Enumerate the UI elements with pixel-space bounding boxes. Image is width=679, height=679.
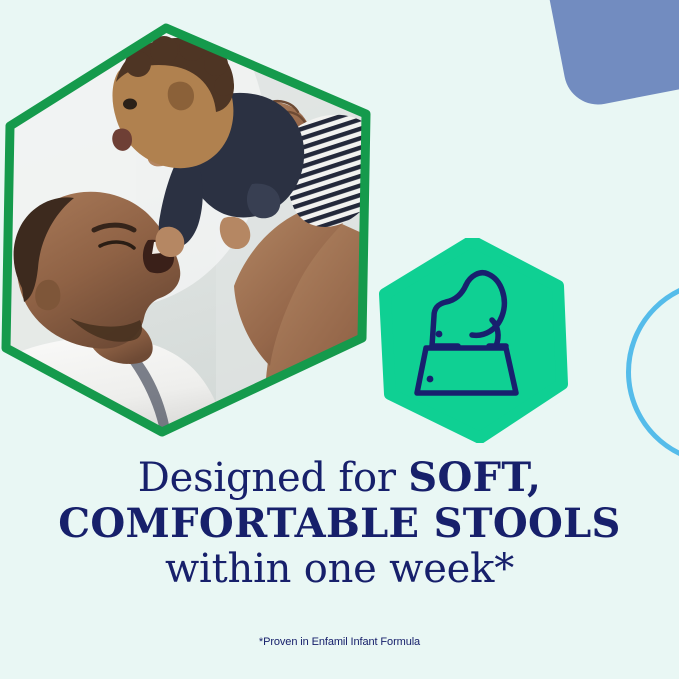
footnote-text: *Proven in Enfamil Infant Formula — [0, 636, 679, 648]
stool-badge — [376, 238, 571, 443]
circle-outline-shape — [626, 279, 679, 465]
badge-hexagon-shape — [385, 241, 562, 438]
blue-corner-shape — [533, 0, 679, 110]
headline-line-1-bold: SOFT, — [408, 454, 541, 501]
headline-block: Designed for SOFT, COMFORTABLE STOOLS wi… — [0, 456, 679, 592]
headline-line-2: COMFORTABLE STOOLS — [0, 502, 679, 545]
headline-line-1-regular: Designed for — [138, 455, 409, 501]
photo-hexagon — [0, 18, 386, 442]
headline-line-1: Designed for SOFT, — [0, 456, 679, 500]
ad-canvas: Designed for SOFT, COMFORTABLE STOOLS wi… — [0, 0, 679, 679]
headline-line-3: within one week* — [0, 548, 679, 591]
